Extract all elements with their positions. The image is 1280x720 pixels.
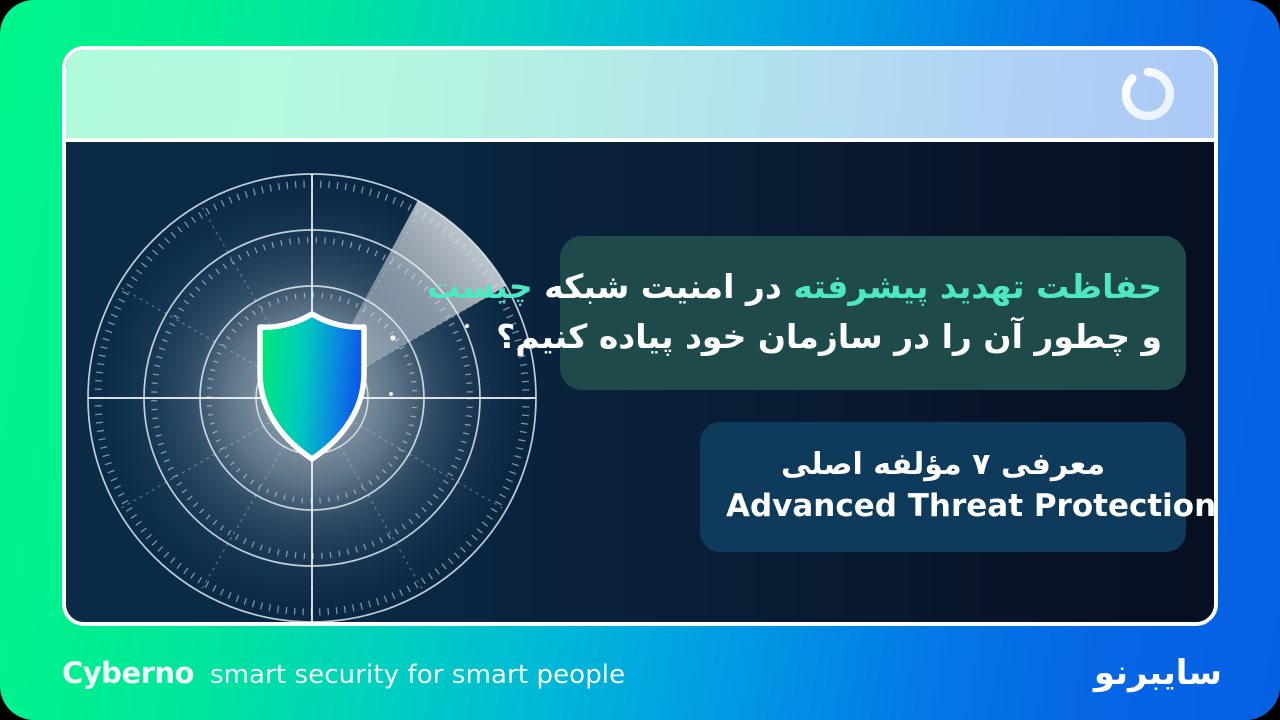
subtitle-persian: معرفی ۷ مؤلفه اصلی: [726, 444, 1160, 485]
brand-tagline: smart security for smart people: [210, 660, 625, 690]
headline-line-1: حفاظت تهدید پیشرفته در امنیت شبکه چیست: [584, 262, 1162, 312]
headline-segment-mint-2: چیست: [427, 267, 533, 306]
brand-name: Cyberno: [62, 656, 194, 690]
browser-window-mockup: حفاظت تهدید پیشرفته در امنیت شبکه چیست و…: [62, 46, 1218, 626]
subtitle-box: معرفی ۷ مؤلفه اصلی Advanced Threat Prote…: [700, 422, 1186, 552]
footer-bar: Cyberno smart security for smart people …: [0, 626, 1280, 720]
browser-content-area: حفاظت تهدید پیشرفته در امنیت شبکه چیست و…: [66, 142, 1214, 622]
poster-canvas: حفاظت تهدید پیشرفته در امنیت شبکه چیست و…: [0, 0, 1280, 720]
headline-segment-white-1: در امنیت شبکه: [544, 267, 782, 306]
footer-logo-persian: سایبرنو: [1094, 653, 1222, 693]
browser-chrome-bar: [66, 50, 1214, 142]
headline-box: حفاظت تهدید پیشرفته در امنیت شبکه چیست و…: [560, 236, 1186, 390]
loading-spinner-icon[interactable]: [1122, 68, 1174, 120]
radar-sweep-graphic: [66, 142, 572, 622]
brand-lockup: Cyberno smart security for smart people: [62, 656, 625, 690]
headline-line-2: و چطور آن را در سازمان خود پیاده کنیم؟: [584, 312, 1162, 362]
subtitle-english: Advanced Threat Protection: [726, 485, 1160, 528]
headline-segment-mint-1: حفاظت تهدید پیشرفته: [793, 267, 1162, 306]
